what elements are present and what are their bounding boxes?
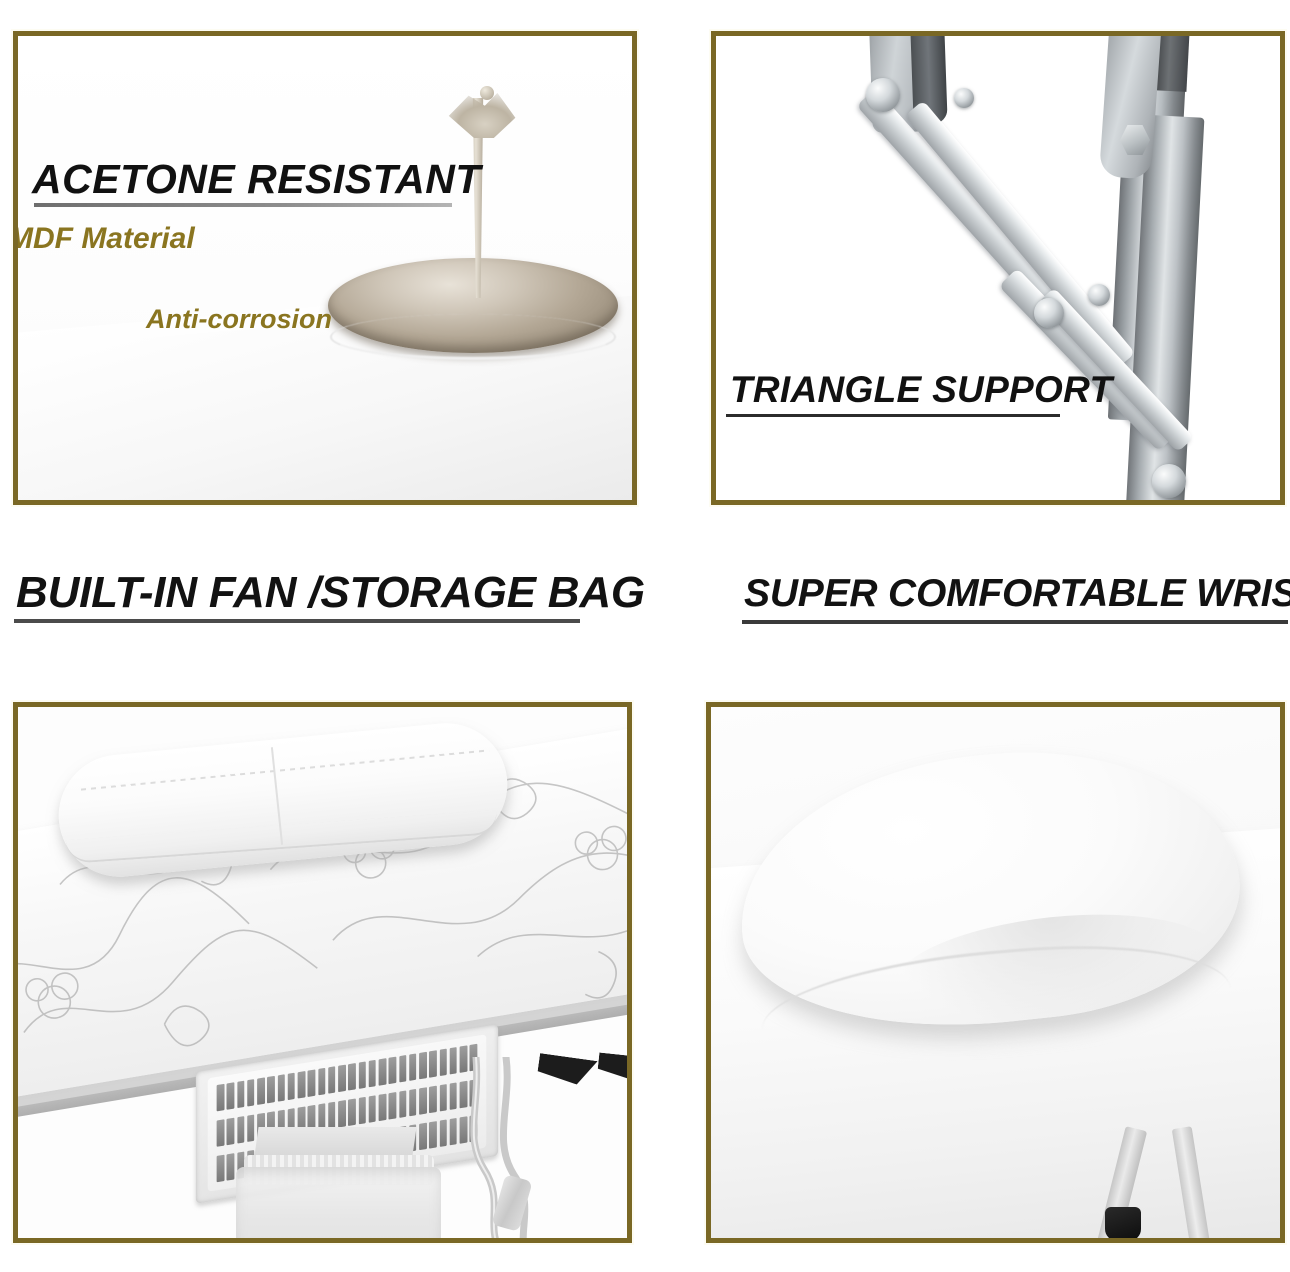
caster-wheel [1105, 1207, 1141, 1238]
panel-title-acetone: ACETONE RESISTANT [32, 156, 481, 203]
pivot-bolt-middle [1034, 298, 1064, 328]
panel-title-underline [34, 203, 452, 207]
pivot-bolt-top-left [866, 78, 900, 112]
panel-title-triangle-support: TRIANGLE SUPPORT [730, 369, 1112, 411]
heading-super-comfortable-wrist-pad: SUPER COMFORTABLE WRIST PAD [744, 572, 1290, 616]
panel-acetone-content: ACETONE RESISTANT MDF Material Anti-corr… [18, 36, 632, 500]
panel-built-in-fan-storage-bag [13, 702, 632, 1243]
panel-title-underline [726, 414, 1060, 417]
panel-acetone-resistant: ACETONE RESISTANT MDF Material Anti-corr… [13, 31, 637, 505]
leg-strap-bracket [1099, 36, 1161, 180]
heading-underline-fan [14, 619, 580, 623]
acetone-droplet [480, 86, 494, 100]
panel-subtitle-mdf-material: MDF Material [18, 222, 195, 256]
pivot-bolt-middle-right [1088, 284, 1110, 306]
acetone-pool-rim [330, 314, 616, 360]
pivot-bolt-top-center [954, 88, 974, 108]
panel-wrist-pad-content [711, 707, 1280, 1238]
panel-triangle-support: TRIANGLE SUPPORT [711, 31, 1285, 505]
product-feature-infographic: ACETONE RESISTANT MDF Material Anti-corr… [0, 0, 1290, 1272]
panel-triangle-content: TRIANGLE SUPPORT [716, 36, 1280, 500]
heading-underline-wrist [742, 620, 1288, 624]
heading-built-in-fan-storage-bag: BUILT-IN FAN /STORAGE BAG [16, 568, 645, 618]
panel-fan-content [18, 707, 627, 1238]
pivot-bolt-bottom [1152, 464, 1186, 498]
panel-super-comfortable-wrist-pad [706, 702, 1285, 1243]
storage-bag [236, 1167, 441, 1238]
panel-subtitle-anti-corrosion: Anti-corrosion [146, 304, 332, 335]
